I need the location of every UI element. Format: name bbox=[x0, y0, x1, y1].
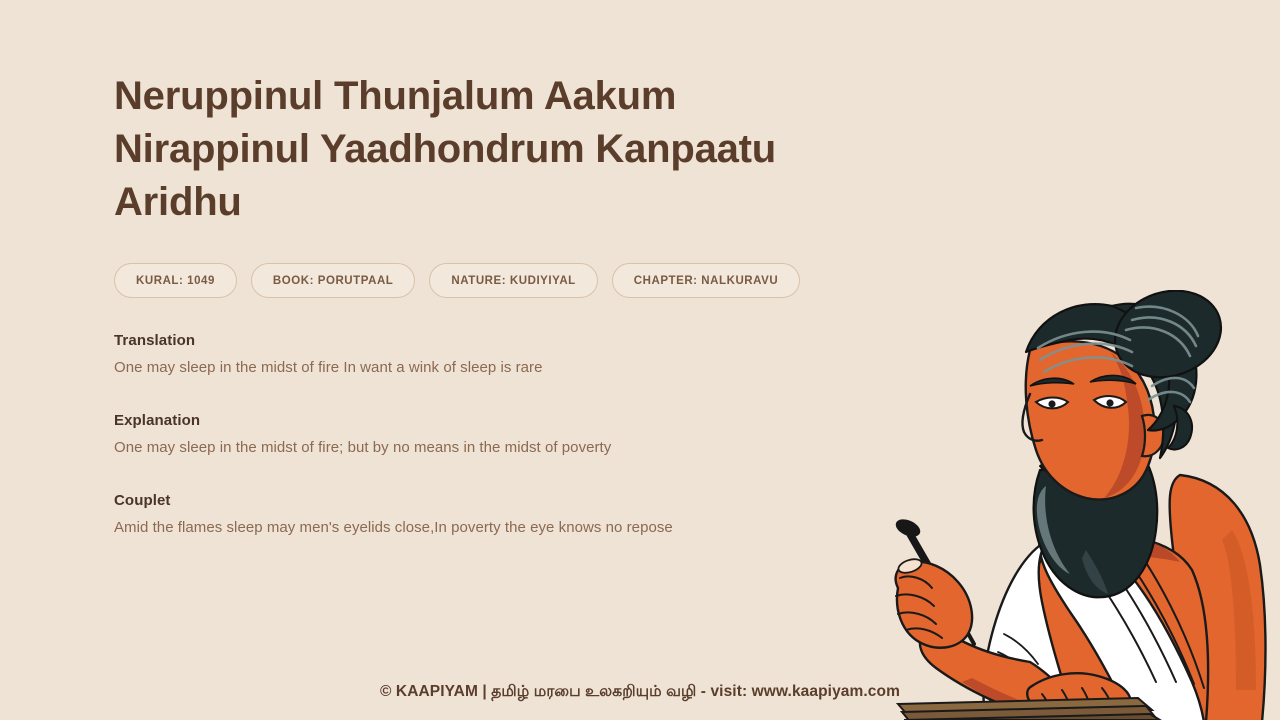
drape-fold-1 bbox=[1076, 552, 1156, 682]
left-eye bbox=[1036, 398, 1068, 409]
face-shadow bbox=[1104, 352, 1145, 498]
ear bbox=[1142, 415, 1164, 456]
writing-hand bbox=[896, 557, 972, 648]
thiruvalluvar-illustration bbox=[880, 290, 1280, 720]
chip-kural[interactable]: KURAL: 1049 bbox=[114, 263, 237, 298]
shoulder-fold-1 bbox=[1004, 634, 1038, 664]
right-eye bbox=[1094, 396, 1126, 408]
right-arm-shadow bbox=[1222, 530, 1256, 690]
footer-credit-text: © KAAPIYAM | தமிழ் மரபை உலகறியும் வழி - … bbox=[380, 683, 900, 702]
content-column: Neruppinul Thunjalum Aakum Nirappinul Ya… bbox=[114, 70, 874, 538]
drape-fold-2 bbox=[1094, 546, 1176, 682]
explanation-heading: Explanation bbox=[114, 412, 874, 429]
chip-nature[interactable]: NATURE: KUDIYIYAL bbox=[429, 263, 597, 298]
metadata-chip-row: KURAL: 1049 BOOK: PORUTPAAL NATURE: KUDI… bbox=[114, 263, 874, 298]
explanation-text: One may sleep in the midst of fire; but … bbox=[114, 437, 874, 458]
hair-back bbox=[1112, 304, 1196, 431]
translation-text: One may sleep in the midst of fire In wa… bbox=[114, 357, 874, 378]
beard-highlight bbox=[1037, 486, 1070, 574]
shoulder-fold-2 bbox=[998, 652, 1034, 682]
moustache bbox=[1040, 453, 1109, 478]
right-pupil bbox=[1106, 399, 1113, 406]
chip-chapter[interactable]: CHAPTER: NALKURAVU bbox=[612, 263, 801, 298]
face bbox=[1026, 341, 1155, 499]
nose bbox=[1022, 394, 1042, 441]
left-eyebrow bbox=[1030, 378, 1074, 386]
hair-bun bbox=[1104, 290, 1233, 391]
couplet-text: Amid the flames sleep may men's eyelids … bbox=[114, 517, 874, 538]
section-translation: Translation One may sleep in the midst o… bbox=[114, 332, 874, 378]
right-eyebrow bbox=[1090, 375, 1136, 384]
hair-loose-strand bbox=[1168, 406, 1192, 450]
hair bbox=[1026, 304, 1177, 458]
stylus bbox=[893, 516, 974, 644]
translation-heading: Translation bbox=[114, 332, 874, 349]
kural-card: Neruppinul Thunjalum Aakum Nirappinul Ya… bbox=[0, 0, 1280, 720]
footer: © KAAPIYAM | தமிழ் மரபை உலகறியும் வழி - … bbox=[0, 683, 1280, 702]
left-pupil bbox=[1048, 400, 1055, 407]
page-title: Neruppinul Thunjalum Aakum Nirappinul Ya… bbox=[114, 70, 814, 229]
couplet-heading: Couplet bbox=[114, 492, 874, 509]
beard bbox=[1034, 454, 1158, 597]
section-explanation: Explanation One may sleep in the midst o… bbox=[114, 412, 874, 458]
neck-shadow bbox=[1090, 534, 1180, 562]
section-couplet: Couplet Amid the flames sleep may men's … bbox=[114, 492, 874, 538]
chip-book[interactable]: BOOK: PORUTPAAL bbox=[251, 263, 415, 298]
left-forearm bbox=[920, 632, 1086, 720]
drape-fold-3 bbox=[1114, 542, 1194, 684]
beard-shade bbox=[1082, 550, 1108, 594]
drape-fold-4 bbox=[1132, 542, 1204, 688]
hair-strands bbox=[1038, 307, 1198, 402]
